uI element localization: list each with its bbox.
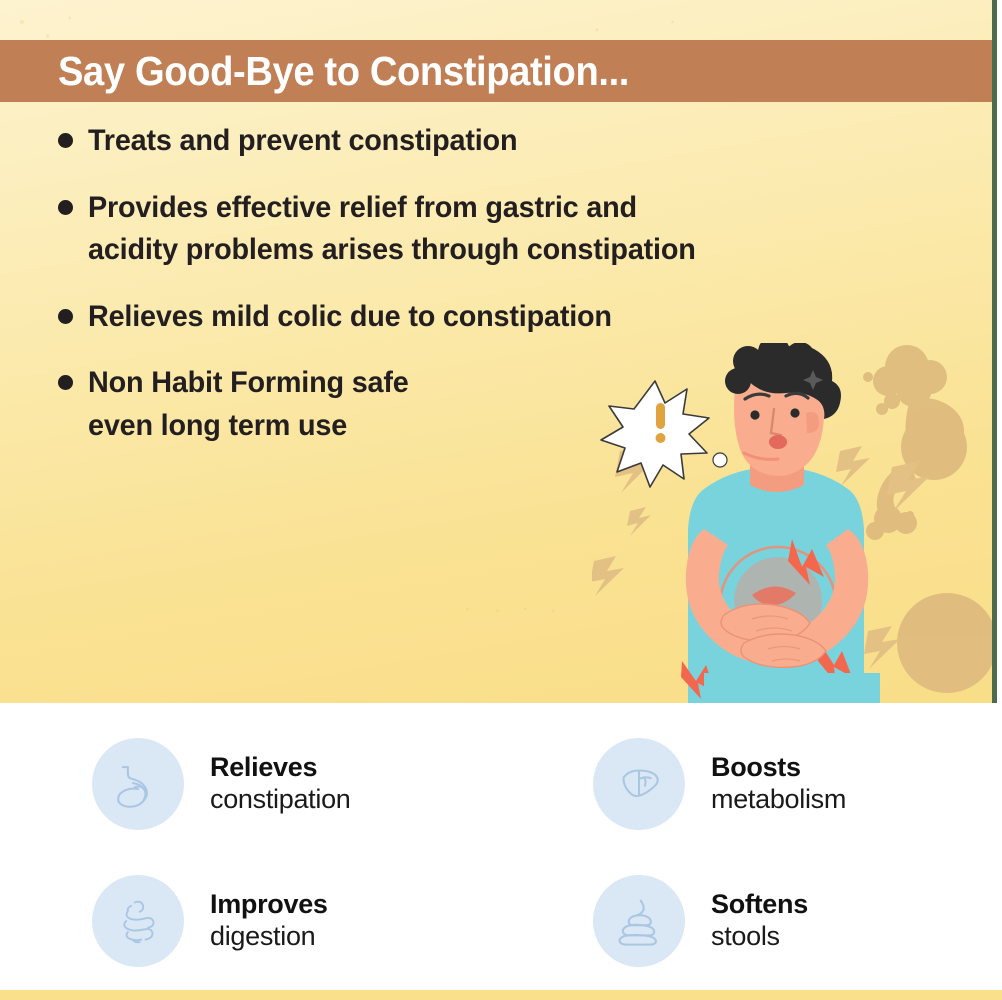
intestine-icon — [92, 875, 184, 967]
bullet-item: Provides effective relief from gastric a… — [58, 187, 848, 272]
bullet-dot-icon — [58, 200, 73, 215]
bullet-text: Treats and prevent constipation — [88, 120, 517, 163]
benefit-label-group: Improves digestion — [210, 889, 328, 953]
stool-icon — [593, 875, 685, 967]
benefit-subtitle: constipation — [210, 784, 351, 816]
bullet-text: Relieves mild colic due to constipation — [88, 296, 612, 339]
benefit-label-group: Relieves constipation — [210, 752, 351, 816]
benefit-item-softens-stools: Softens stools — [501, 853, 1002, 991]
benefits-grid: Relieves constipation Boosts metabolism — [0, 703, 1002, 990]
bullet-item: Non Habit Forming safe even long term us… — [58, 362, 848, 447]
benefit-subtitle: stools — [711, 921, 808, 953]
benefit-subtitle: digestion — [210, 921, 328, 953]
bullet-item: Relieves mild colic due to constipation — [58, 296, 848, 339]
bullet-text: Non Habit Forming safe even long term us… — [88, 362, 409, 447]
benefit-title: Boosts — [711, 752, 846, 784]
title-band: Say Good-Bye to Constipation... — [0, 40, 992, 102]
benefit-label-group: Boosts metabolism — [711, 752, 846, 816]
bottom-accent-strip — [0, 990, 1002, 1000]
benefit-title: Softens — [711, 889, 808, 921]
bullet-dot-icon — [58, 375, 73, 390]
benefit-label-group: Softens stools — [711, 889, 808, 953]
benefit-title: Improves — [210, 889, 328, 921]
infographic-poster: Say Good-Bye to Constipation... Treats a… — [0, 0, 1002, 1000]
benefit-bullet-list: Treats and prevent constipation Provides… — [58, 120, 848, 472]
page-title: Say Good-Bye to Constipation... — [58, 51, 629, 92]
benefit-item-relieves-constipation: Relieves constipation — [0, 715, 501, 853]
bullet-dot-icon — [58, 133, 73, 148]
hero-panel: Say Good-Bye to Constipation... Treats a… — [0, 0, 997, 703]
liver-icon — [593, 738, 685, 830]
bullet-text: Provides effective relief from gastric a… — [88, 187, 696, 272]
benefit-item-boosts-metabolism: Boosts metabolism — [501, 715, 1002, 853]
bullet-dot-icon — [58, 309, 73, 324]
bullet-item: Treats and prevent constipation — [58, 120, 848, 163]
benefit-item-improves-digestion: Improves digestion — [0, 853, 501, 991]
stomach-icon — [92, 738, 184, 830]
benefit-subtitle: metabolism — [711, 784, 846, 816]
benefit-title: Relieves — [210, 752, 351, 784]
